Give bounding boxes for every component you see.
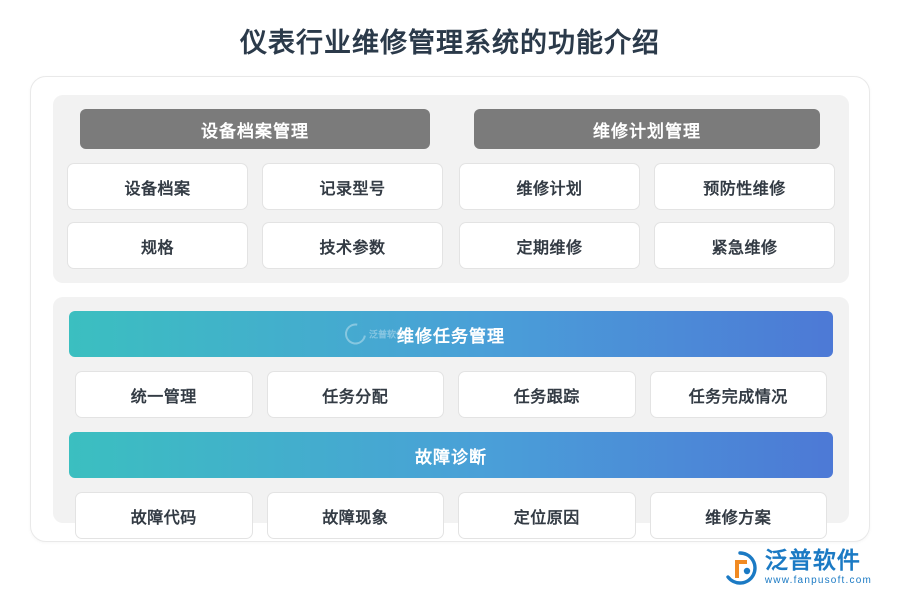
page-title: 仪表行业维修管理系统的功能介绍	[0, 0, 900, 59]
list-item[interactable]: 记录型号	[262, 163, 443, 210]
equipment-archive-cells: 设备档案 记录型号 规格 技术参数	[67, 163, 443, 269]
list-item[interactable]: 预防性维修	[654, 163, 835, 210]
maintenance-plan-cells: 维修计划 预防性维修 定期维修 紧急维修	[459, 163, 835, 269]
fault-diagnosis-cells: 故障代码 故障现象 定位原因 维修方案	[69, 492, 833, 539]
diagram-card: 设备档案管理 设备档案 记录型号 规格 技术参数 维修计划管理 维修计划 预防性…	[30, 76, 870, 542]
fanpu-logo-icon	[723, 551, 757, 585]
list-item[interactable]: 任务分配	[267, 371, 445, 418]
list-item[interactable]: 故障现象	[267, 492, 445, 539]
list-item[interactable]: 维修方案	[650, 492, 828, 539]
list-item[interactable]: 技术参数	[262, 222, 443, 269]
fault-diagnosis-band: 故障诊断	[69, 432, 833, 478]
list-item[interactable]: 紧急维修	[654, 222, 835, 269]
list-item[interactable]: 定位原因	[458, 492, 636, 539]
equipment-archive-column: 设备档案管理 设备档案 记录型号 规格 技术参数	[67, 109, 443, 269]
equipment-archive-header: 设备档案管理	[80, 109, 430, 149]
fault-diagnosis-band-label: 故障诊断	[415, 443, 487, 468]
list-item[interactable]: 故障代码	[75, 492, 253, 539]
list-item[interactable]: 规格	[67, 222, 248, 269]
watermark: 泛普软件	[345, 324, 405, 345]
top-section: 设备档案管理 设备档案 记录型号 规格 技术参数 维修计划管理 维修计划 预防性…	[53, 95, 849, 283]
maintenance-plan-column: 维修计划管理 维修计划 预防性维修 定期维修 紧急维修	[459, 109, 835, 269]
list-item[interactable]: 设备档案	[67, 163, 248, 210]
list-item[interactable]: 任务完成情况	[650, 371, 828, 418]
bottom-section: 维修任务管理 泛普软件 统一管理 任务分配 任务跟踪 任务完成情况 故障诊断 故…	[53, 297, 849, 523]
list-item[interactable]: 任务跟踪	[458, 371, 636, 418]
maintenance-plan-header: 维修计划管理	[474, 109, 820, 149]
maintenance-task-band-label: 维修任务管理	[397, 322, 505, 347]
brand-logo-text: 泛普软件 www.fanpusoft.com	[765, 549, 872, 586]
brand-logo: 泛普软件 www.fanpusoft.com	[723, 549, 872, 586]
brand-name-cn: 泛普软件	[765, 549, 872, 572]
maintenance-task-band: 维修任务管理 泛普软件	[69, 311, 833, 357]
fanpu-logo-icon	[341, 319, 370, 348]
list-item[interactable]: 维修计划	[459, 163, 640, 210]
list-item[interactable]: 定期维修	[459, 222, 640, 269]
maintenance-task-cells: 统一管理 任务分配 任务跟踪 任务完成情况	[69, 371, 833, 418]
brand-url: www.fanpusoft.com	[765, 576, 872, 586]
list-item[interactable]: 统一管理	[75, 371, 253, 418]
